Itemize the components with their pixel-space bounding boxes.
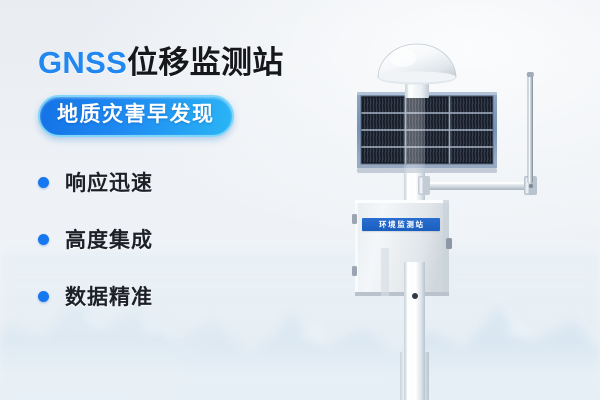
solar-panel [357,92,497,173]
crossarm [418,176,537,195]
list-item: 数据精准 [38,281,338,311]
equipment-enclosure [352,200,452,296]
pole-sensor-port [412,293,418,299]
tagline-badge: 地质灾害早发现 [38,95,234,137]
blue-dot-bullet-icon [38,291,49,302]
blue-dot-bullet-icon [38,177,49,188]
brand-name: GNSS [38,45,127,80]
product-poster: 环境监测站 GNSS位移监测站 地质灾害早发现 响应迅速 高度集成 数据精准 [0,0,600,400]
enclosure-hinge-top [352,214,357,224]
list-item: 高度集成 [38,224,338,254]
title-rest: 位移监测站 [127,45,284,80]
tagline-badge-text: 地质灾害早发现 [57,103,215,126]
page-title: GNSS位移监测站 [38,46,338,80]
feature-label: 高度集成 [65,224,153,254]
feature-label: 数据精准 [65,281,153,311]
blue-dot-bullet-icon [38,234,49,245]
feature-list: 响应迅速 高度集成 数据精准 [38,167,338,311]
enclosure-label-text: 环境监测站 [379,221,425,229]
enclosure-hinge-bottom [352,266,357,276]
enclosure-label: 环境监测站 [362,218,440,231]
marketing-text-block: GNSS位移监测站 地质灾害早发现 响应迅速 高度集成 数据精准 [38,46,338,338]
feature-label: 响应迅速 [65,167,153,197]
pole-behind-panel [404,92,425,174]
enclosure-latch [446,238,452,249]
list-item: 响应迅速 [38,167,338,197]
gnss-antenna-dome [378,44,456,85]
whip-antenna [527,72,534,184]
